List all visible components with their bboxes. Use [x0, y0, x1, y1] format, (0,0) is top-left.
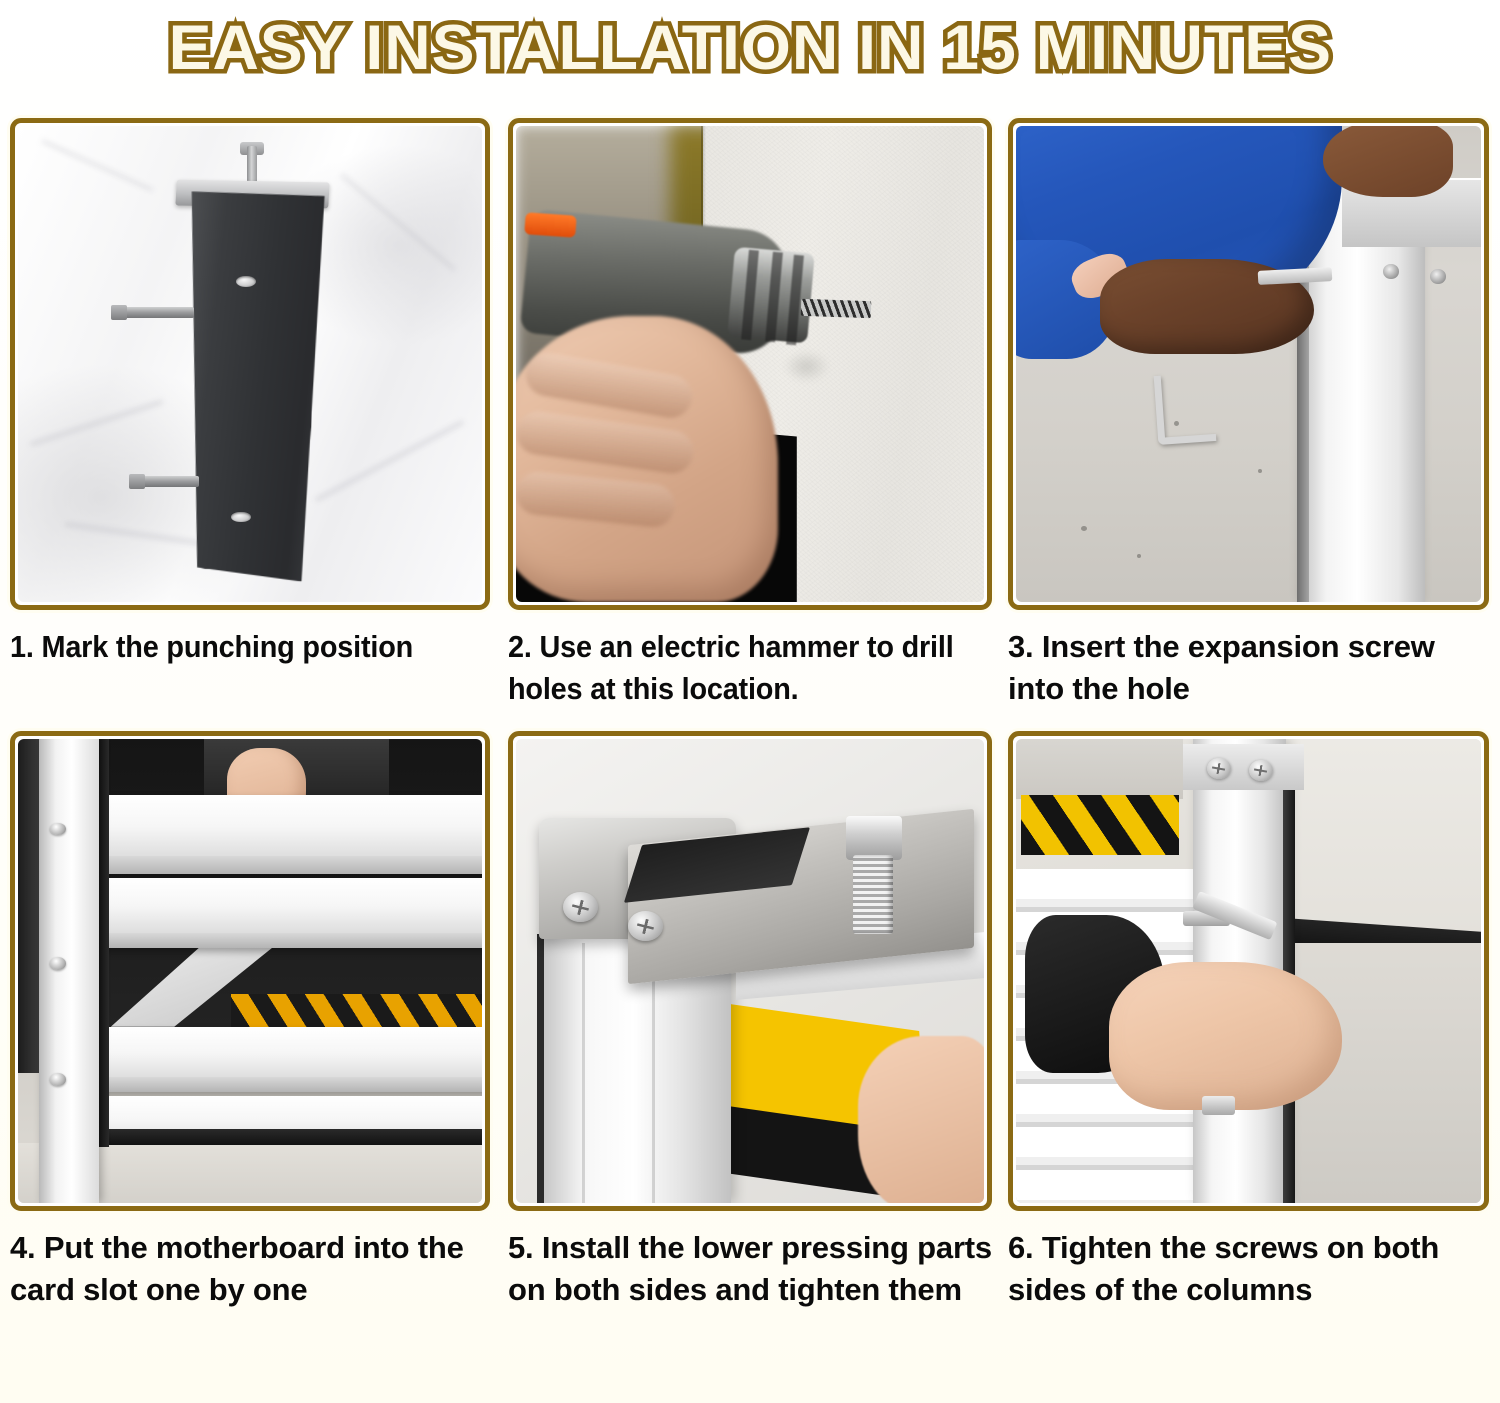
step-1-caption: 1. Mark the punching position — [10, 610, 456, 668]
white-side-column — [39, 739, 99, 1203]
step-6-cell: 6. Tighten the screws on both sides of t… — [1000, 731, 1500, 1310]
allen-key-on-floor — [1153, 372, 1216, 445]
drill-bit — [801, 299, 872, 319]
bracket-screw-right — [628, 911, 663, 941]
step-6-photo-tighten-screws — [1008, 731, 1489, 1211]
hand-supporting-panel — [858, 1036, 984, 1203]
step-3-cell: 3. Insert the expansion screw into the h… — [1000, 118, 1500, 709]
step-2-caption: 2. Use an electric hammer to drill holes… — [508, 610, 958, 709]
upper-frame-area — [1016, 739, 1183, 799]
step-5-photo-lower-pressing-parts — [508, 731, 992, 1211]
step-3-caption: 3. Insert the expansion screw into the h… — [1008, 610, 1489, 709]
upper-bolt-head — [111, 305, 127, 320]
bolt-head — [846, 816, 902, 860]
step-5-cell: 5. Install the lower pressing parts on b… — [500, 731, 1000, 1310]
steps-grid: 1. Mark the punching position — [0, 118, 1500, 1310]
top-stud — [247, 146, 258, 184]
column-dark-edge — [537, 934, 544, 1203]
column-shadow-edge — [18, 739, 39, 1073]
black-mounting-post — [181, 188, 325, 582]
installation-guide-page: EASY INSTALLATION IN 15 MINUTES — [0, 0, 1500, 1403]
floor-skirting — [74, 1129, 482, 1145]
step-3-photo-insert-expansion-screw — [1008, 118, 1489, 610]
hazard-stripe — [231, 994, 482, 1026]
column-gap — [99, 739, 109, 1147]
hand-tightening-screw — [1109, 962, 1342, 1110]
upper-bolt — [115, 307, 194, 318]
step-5-caption: 5. Install the lower pressing parts on b… — [508, 1211, 992, 1310]
lower-screw — [1202, 1096, 1235, 1115]
steps-row-1: 1. Mark the punching position — [0, 118, 1500, 709]
title-bar: EASY INSTALLATION IN 15 MINUTES — [0, 0, 1500, 96]
steps-row-2: 4. Put the motherboard into the card slo… — [0, 731, 1500, 1310]
step-2-cell: 2. Use an electric hammer to drill holes… — [500, 118, 1000, 709]
step-2-photo-drill-holes — [508, 118, 992, 610]
step-4-photo-insert-boards — [10, 731, 490, 1211]
upper-punch-hole — [236, 276, 256, 287]
step-1-photo-mark-punching-position — [10, 118, 490, 610]
hazard-stripe — [1021, 795, 1179, 855]
row-spacer — [0, 709, 1500, 731]
column-top-bracket — [1183, 744, 1304, 790]
bolt-threaded-shaft — [853, 855, 893, 934]
page-title: EASY INSTALLATION IN 15 MINUTES — [168, 17, 1331, 80]
bracket-screw-left — [563, 892, 598, 922]
worker-second-hand — [1323, 126, 1453, 197]
step-1-cell: 1. Mark the punching position — [0, 118, 500, 709]
step-4-cell: 4. Put the motherboard into the card slo… — [0, 731, 500, 1310]
step-6-caption: 6. Tighten the screws on both sides of t… — [1008, 1211, 1489, 1310]
drill-dust — [783, 350, 830, 383]
column-screw-left — [1207, 758, 1231, 779]
column-screw-right — [1249, 760, 1273, 781]
lower-bolt-head — [129, 474, 145, 489]
drill-orange-accent — [525, 212, 578, 237]
step-4-caption: 4. Put the motherboard into the card slo… — [10, 1211, 490, 1310]
